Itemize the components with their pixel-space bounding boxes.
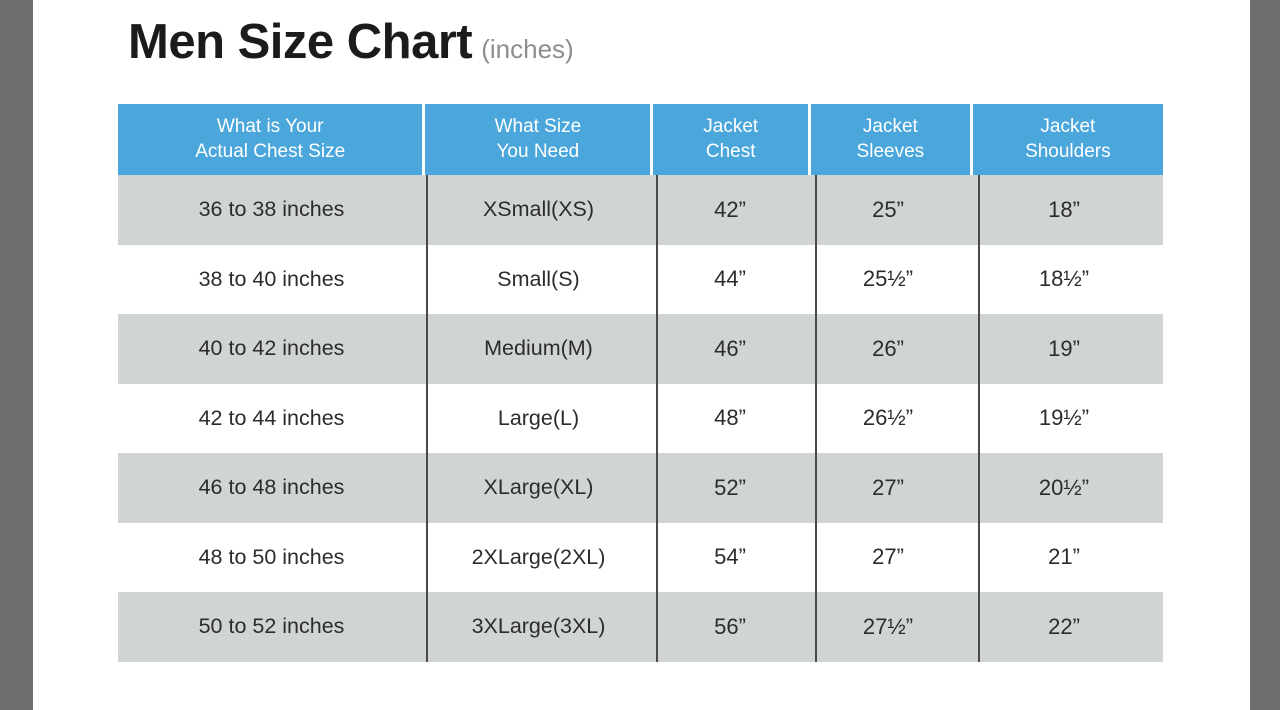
page-title-main: Men Size Chart	[128, 18, 472, 67]
cell-size-needed: XLarge(XL)	[425, 453, 652, 523]
slide-stage: Men Size Chart (inches) What is Your Act…	[0, 0, 1280, 710]
cell-jacket-sleeves: 26”	[808, 314, 968, 384]
column-header-line1: Jacket	[1040, 115, 1095, 139]
cell-jacket-sleeves: 27”	[808, 523, 968, 593]
size-chart-table: What is Your Actual Chest Size What Size…	[118, 104, 1163, 662]
column-header-line1: Jacket	[703, 115, 758, 139]
cell-actual-chest: 46 to 48 inches	[118, 453, 425, 523]
cell-jacket-sleeves: 26½”	[808, 384, 968, 454]
cell-jacket-chest: 56”	[652, 592, 808, 662]
column-header-line1: What Size	[495, 115, 582, 139]
cell-actual-chest: 50 to 52 inches	[118, 592, 425, 662]
table-row: 36 to 38 inchesXSmall(XS)42”25”18”	[118, 175, 1163, 245]
column-header-actual-chest: What is Your Actual Chest Size	[118, 104, 422, 175]
cell-jacket-shoulders: 19”	[968, 314, 1160, 384]
cell-jacket-chest: 54”	[652, 523, 808, 593]
table-body: 36 to 38 inchesXSmall(XS)42”25”18”38 to …	[118, 175, 1163, 662]
table-row: 48 to 50 inches2XLarge(2XL)54”27”21”	[118, 523, 1163, 593]
column-header-line2: Actual Chest Size	[195, 140, 345, 164]
column-header-jacket-shoulders: Jacket Shoulders	[973, 104, 1163, 175]
column-divider	[815, 175, 817, 662]
cell-jacket-shoulders: 18”	[968, 175, 1160, 245]
letterbox-left	[0, 0, 33, 710]
cell-jacket-sleeves: 25”	[808, 175, 968, 245]
cell-jacket-chest: 42”	[652, 175, 808, 245]
table-row: 40 to 42 inchesMedium(M)46”26”19”	[118, 314, 1163, 384]
cell-actual-chest: 38 to 40 inches	[118, 245, 425, 315]
column-header-line2: Sleeves	[857, 140, 925, 164]
cell-actual-chest: 48 to 50 inches	[118, 523, 425, 593]
cell-jacket-shoulders: 20½”	[968, 453, 1160, 523]
column-header-jacket-sleeves: Jacket Sleeves	[811, 104, 970, 175]
table-row: 50 to 52 inches3XLarge(3XL)56”27½”22”	[118, 592, 1163, 662]
cell-jacket-chest: 44”	[652, 245, 808, 315]
column-header-jacket-chest: Jacket Chest	[653, 104, 808, 175]
table-row: 46 to 48 inchesXLarge(XL)52”27”20½”	[118, 453, 1163, 523]
column-divider	[426, 175, 428, 662]
column-divider	[656, 175, 658, 662]
page-title-unit: (inches)	[481, 36, 573, 62]
slide-canvas: Men Size Chart (inches) What is Your Act…	[33, 0, 1250, 710]
column-header-size-needed: What Size You Need	[425, 104, 650, 175]
column-header-line1: Jacket	[863, 115, 918, 139]
cell-jacket-shoulders: 21”	[968, 523, 1160, 593]
page-title: Men Size Chart (inches)	[128, 18, 574, 67]
cell-jacket-chest: 48”	[652, 384, 808, 454]
cell-jacket-sleeves: 27½”	[808, 592, 968, 662]
cell-size-needed: 3XLarge(3XL)	[425, 592, 652, 662]
cell-size-needed: Large(L)	[425, 384, 652, 454]
cell-jacket-sleeves: 25½”	[808, 245, 968, 315]
column-header-line1: What is Your	[217, 115, 324, 139]
cell-jacket-chest: 46”	[652, 314, 808, 384]
cell-size-needed: XSmall(XS)	[425, 175, 652, 245]
table-header-row: What is Your Actual Chest Size What Size…	[118, 104, 1163, 175]
column-header-line2: You Need	[496, 140, 579, 164]
cell-jacket-chest: 52”	[652, 453, 808, 523]
cell-actual-chest: 36 to 38 inches	[118, 175, 425, 245]
column-divider	[978, 175, 980, 662]
cell-size-needed: 2XLarge(2XL)	[425, 523, 652, 593]
table-row: 42 to 44 inchesLarge(L)48”26½”19½”	[118, 384, 1163, 454]
cell-size-needed: Medium(M)	[425, 314, 652, 384]
cell-actual-chest: 42 to 44 inches	[118, 384, 425, 454]
cell-jacket-shoulders: 22”	[968, 592, 1160, 662]
column-header-line2: Shoulders	[1025, 140, 1111, 164]
letterbox-right	[1250, 0, 1280, 710]
cell-jacket-sleeves: 27”	[808, 453, 968, 523]
table-row: 38 to 40 inchesSmall(S)44”25½”18½”	[118, 245, 1163, 315]
cell-size-needed: Small(S)	[425, 245, 652, 315]
cell-jacket-shoulders: 19½”	[968, 384, 1160, 454]
cell-jacket-shoulders: 18½”	[968, 245, 1160, 315]
cell-actual-chest: 40 to 42 inches	[118, 314, 425, 384]
column-header-line2: Chest	[706, 140, 756, 164]
